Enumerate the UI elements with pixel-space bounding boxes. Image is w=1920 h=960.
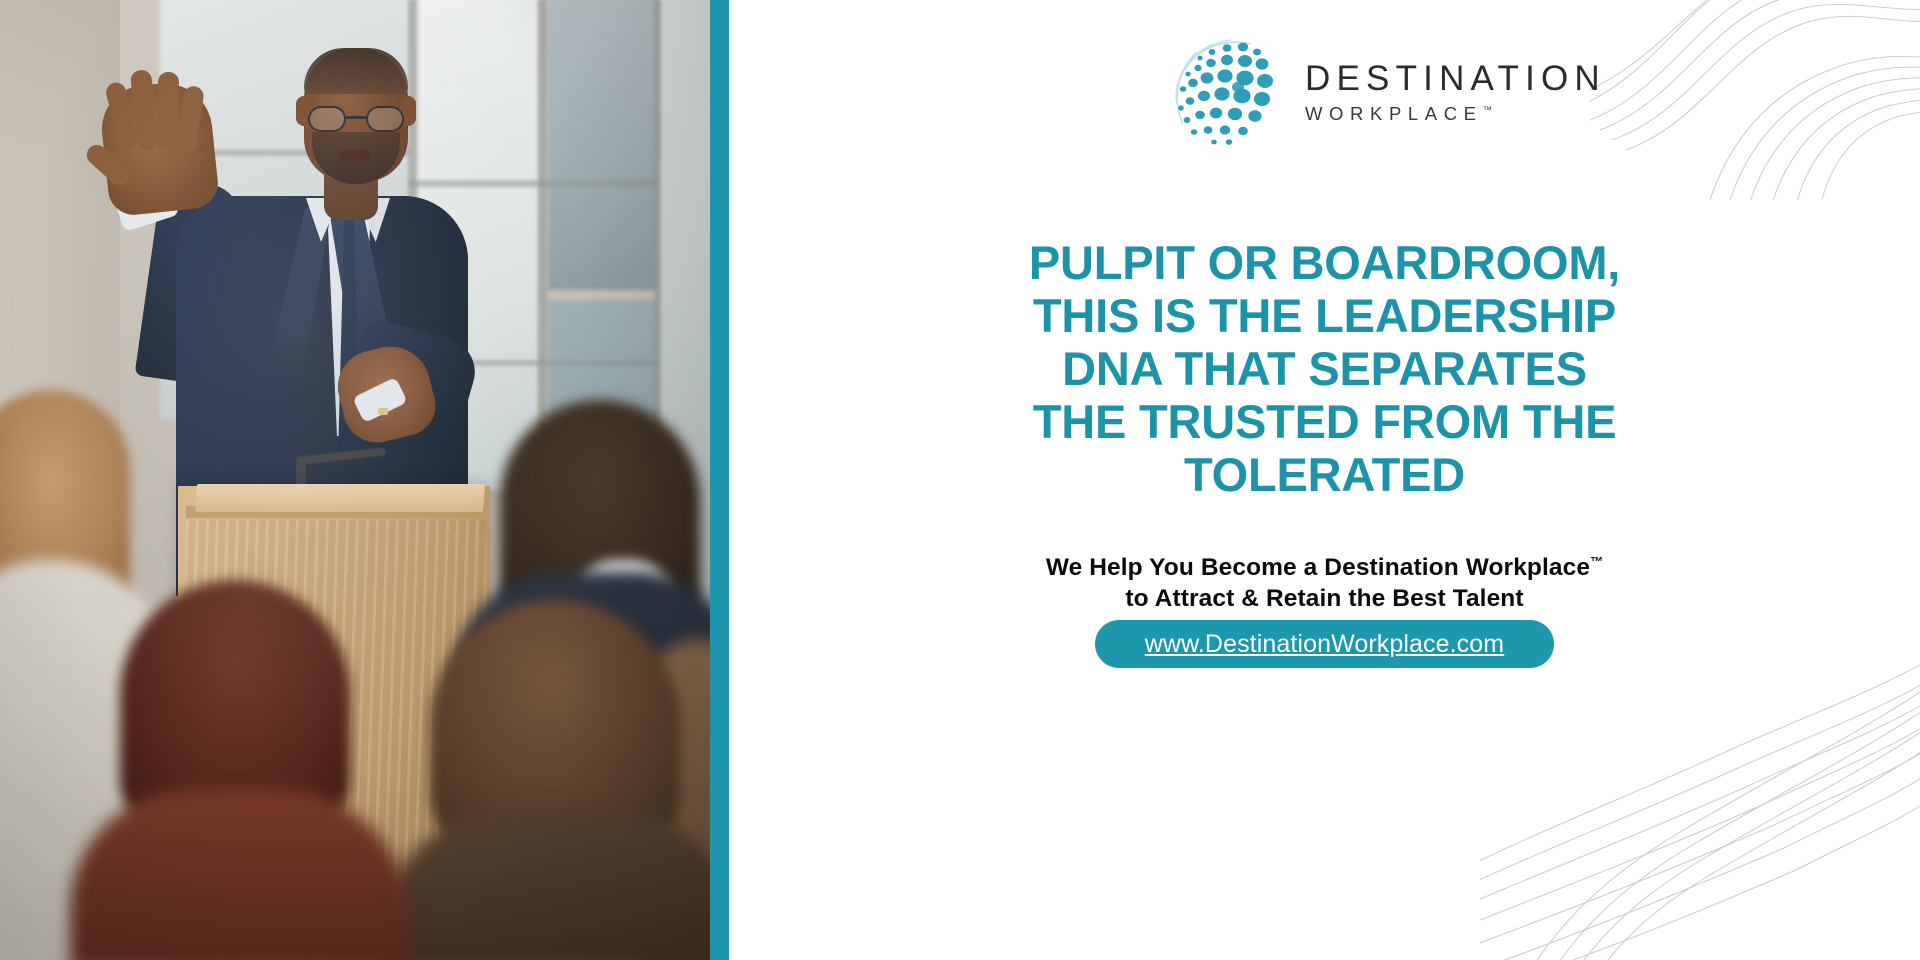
logo-wordmark: DESTINATION WORKPLACE™	[1305, 55, 1606, 124]
headline-line-4: THE TRUSTED FROM THE	[729, 395, 1920, 448]
eyeglass-lens-right	[366, 106, 404, 132]
headline: PULPIT OR BOARDROOM, THIS IS THE LEADERS…	[729, 236, 1920, 501]
tagline-line-1: We Help You Become a Destination Workpla…	[729, 546, 1920, 583]
eyeglasses-icon	[306, 106, 406, 132]
tagline-line-2: to Attract & Retain the Best Talent	[729, 583, 1920, 614]
headline-line-5: TOLERATED	[729, 448, 1920, 501]
speaker-wedding-ring	[378, 408, 388, 415]
window-pane-c	[548, 0, 658, 290]
logo-trademark-symbol: ™	[1483, 105, 1493, 116]
eyeglass-lens-left	[308, 106, 346, 132]
window-frame-horizontal-1	[408, 180, 658, 187]
logo-word-workplace-text: WORKPLACE	[1305, 103, 1483, 124]
website-url-button[interactable]: www.DestinationWorkplace.com	[1095, 620, 1554, 668]
content-panel: DESTINATION WORKPLACE™ PULPIT OR BOARDRO…	[729, 0, 1920, 960]
podium-top-surface	[195, 484, 485, 512]
speaker-mouth	[340, 150, 370, 162]
headline-line-3: DNA THAT SEPARATES	[729, 342, 1920, 395]
dotted-globe-icon	[1169, 30, 1287, 148]
tagline: We Help You Become a Destination Workpla…	[729, 546, 1920, 614]
promo-graphic: DESTINATION WORKPLACE™ PULPIT OR BOARDRO…	[0, 0, 1920, 960]
speaker-photo	[0, 0, 710, 960]
teal-divider-bar	[710, 0, 729, 960]
headline-line-2: THIS IS THE LEADERSHIP	[729, 289, 1920, 342]
eyeglass-bridge	[346, 116, 366, 119]
swirl-decoration-top-right	[1590, 0, 1920, 200]
cta-row: www.DestinationWorkplace.com	[729, 620, 1920, 668]
logo-word-workplace: WORKPLACE™	[1305, 105, 1606, 124]
headline-line-1: PULPIT OR BOARDROOM,	[729, 236, 1920, 289]
tagline-trademark-symbol: ™	[1590, 554, 1603, 569]
tagline-line-1-text: We Help You Become a Destination Workpla…	[1046, 554, 1590, 581]
logo-word-destination: DESTINATION	[1305, 61, 1606, 96]
brand-logo[interactable]: DESTINATION WORKPLACE™	[1169, 30, 1606, 148]
